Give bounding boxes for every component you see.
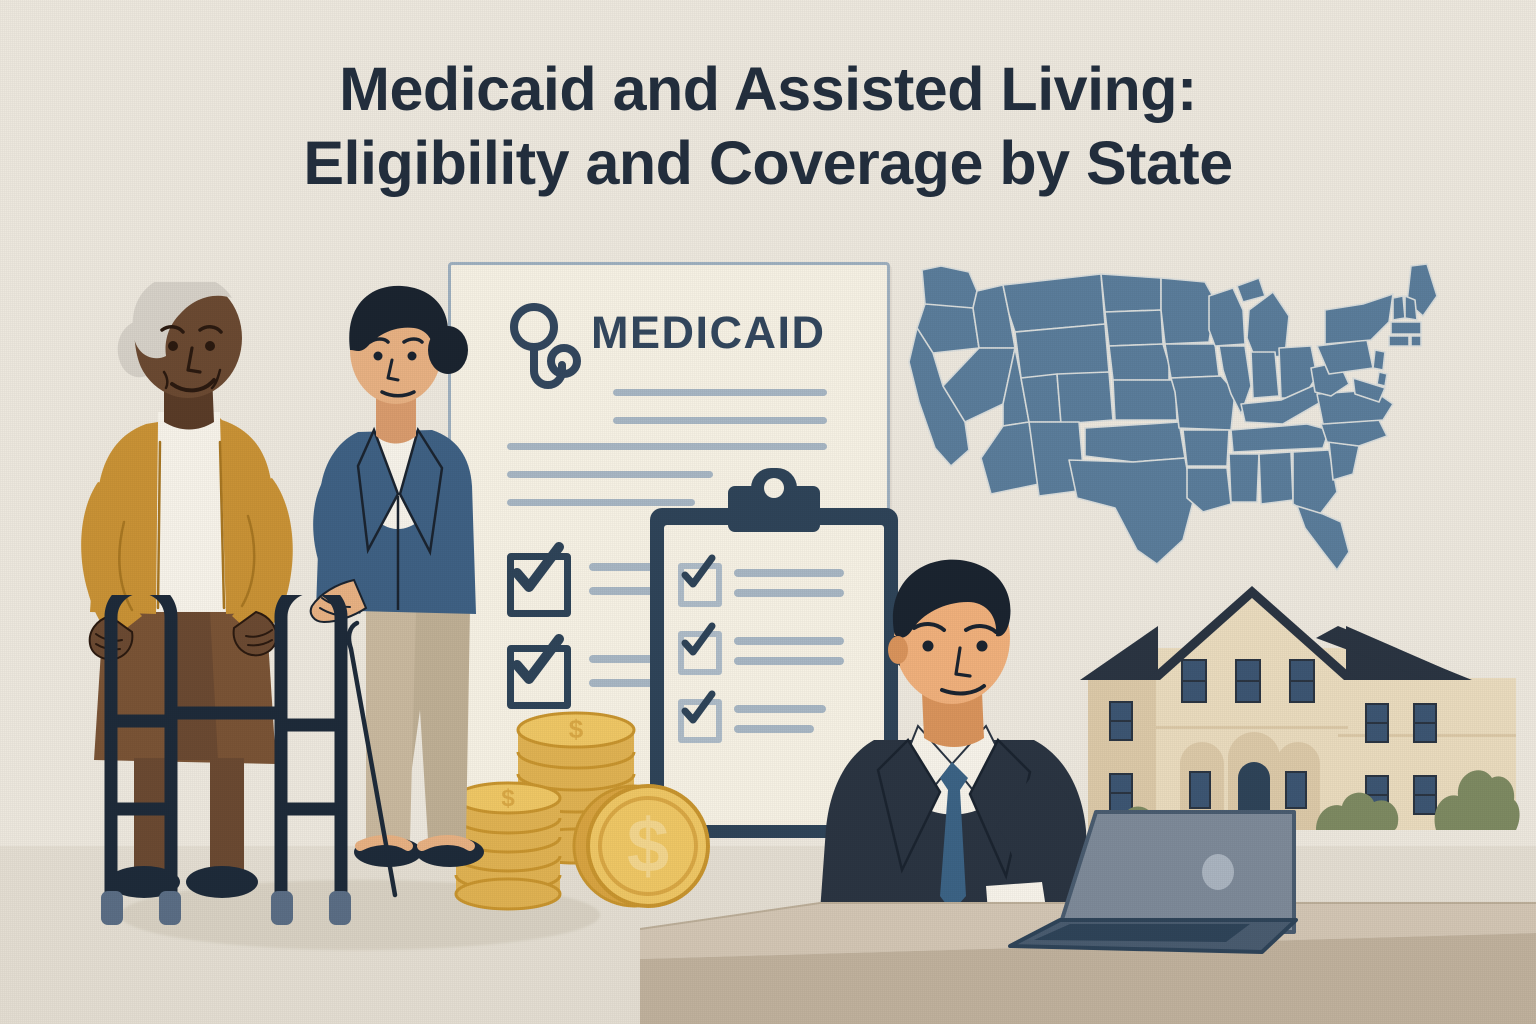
- document-text-line: [507, 443, 827, 450]
- mobility-walker[interactable]: [95, 595, 435, 945]
- document-text-line: [613, 417, 827, 424]
- title-line-1: Medicaid and Assisted Living:: [0, 52, 1536, 126]
- clipboard-clip-hole: [764, 478, 784, 498]
- laptop-computer[interactable]: [1000, 800, 1310, 960]
- svg-text:$: $: [627, 804, 669, 889]
- page-title: Medicaid and Assisted Living: Eligibilit…: [0, 52, 1536, 200]
- document-text-line: [613, 389, 827, 396]
- svg-text:$: $: [569, 714, 584, 744]
- document-text-line: [507, 471, 713, 478]
- title-line-2: Eligibility and Coverage by State: [0, 126, 1536, 200]
- document-heading: MEDICAID: [591, 307, 826, 359]
- check-icon: [676, 621, 718, 663]
- document-text-line: [507, 499, 695, 506]
- coin-standing: $: [574, 786, 708, 906]
- check-icon: [676, 553, 718, 595]
- illustration-canvas: Medicaid and Assisted Living: Eligibilit…: [0, 0, 1536, 1024]
